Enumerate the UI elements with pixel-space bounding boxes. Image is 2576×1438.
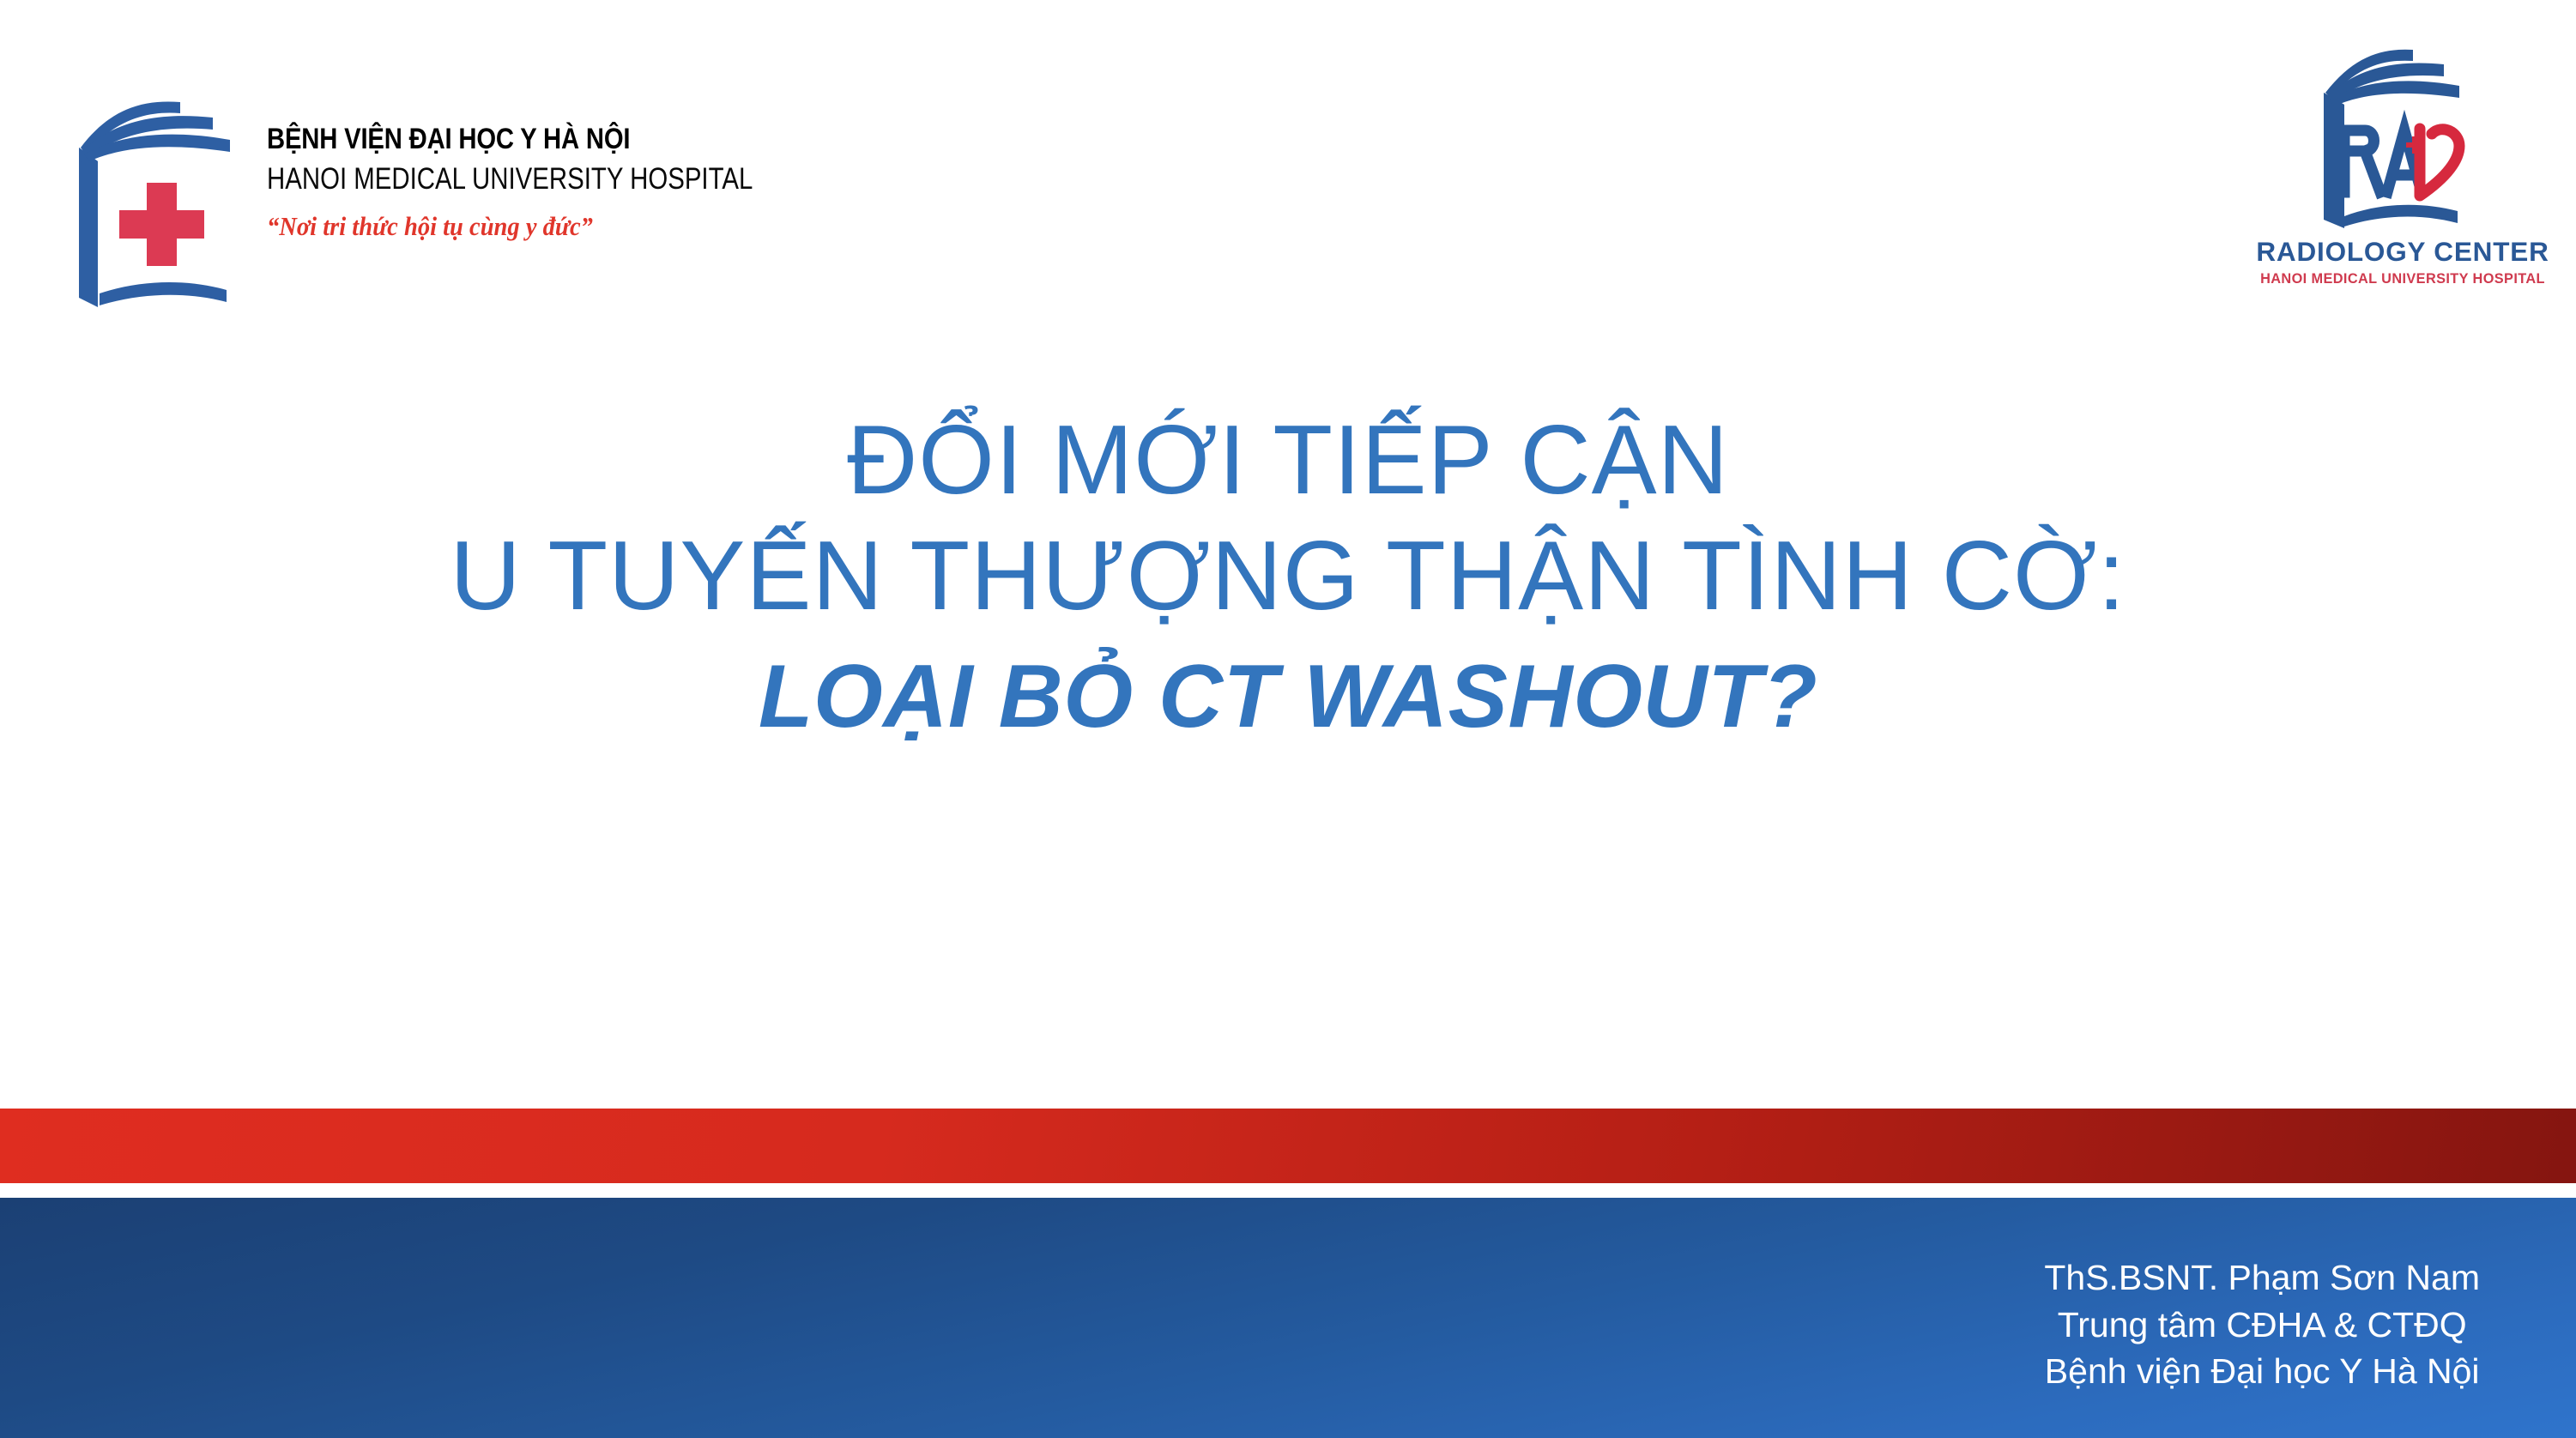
author-credits: ThS.BSNT. Phạm Sơn Nam Trung tâm CĐHA & …	[2044, 1254, 2480, 1395]
radiology-center-logo-block: RADIOLOGY CENTER HANOI MEDICAL UNIVERSIT…	[2248, 38, 2557, 287]
radiology-center-name: RADIOLOGY CENTER	[2248, 236, 2557, 268]
presentation-slide: BỆNH VIỆN ĐẠI HỌC Y HÀ NỘI HANOI MEDICAL…	[0, 0, 2576, 1438]
author-department: Trung tâm CĐHA & CTĐQ	[2044, 1302, 2480, 1349]
title-line-2: U TUYẾN THƯỢNG THẬN TÌNH CỜ:	[0, 519, 2576, 635]
title-line-3: LOẠI BỎ CT WASHOUT?	[0, 644, 2576, 750]
hospital-name-en: HANOI MEDICAL UNIVERSITY HOSPITAL	[267, 160, 753, 199]
hospital-slogan: “Nơi tri thức hội tụ cùng y đức”	[267, 211, 799, 242]
hospital-name-vn: BỆNH VIỆN ĐẠI HỌC Y HÀ NỘI	[267, 122, 765, 156]
radiology-center-subtitle: HANOI MEDICAL UNIVERSITY HOSPITAL	[2254, 270, 2551, 287]
title-line-1: ĐỔI MỚI TIẾP CẬN	[0, 403, 2576, 519]
red-accent-band	[0, 1109, 2576, 1183]
hospital-name-text: BỆNH VIỆN ĐẠI HỌC Y HÀ NỘI HANOI MEDICAL…	[267, 122, 845, 242]
slide-title: ĐỔI MỚI TIẾP CẬN U TUYẾN THƯỢNG THẬN TÌN…	[0, 403, 2576, 750]
open-book-with-red-cross-logo	[67, 94, 243, 313]
radiology-center-book-ra-heart-logo	[2291, 38, 2514, 239]
author-name: ThS.BSNT. Phạm Sơn Nam	[2044, 1254, 2480, 1302]
author-institution: Bệnh viện Đại học Y Hà Nội	[2044, 1348, 2480, 1395]
hospital-logo-block: BỆNH VIỆN ĐẠI HỌC Y HÀ NỘI HANOI MEDICAL…	[67, 86, 845, 313]
